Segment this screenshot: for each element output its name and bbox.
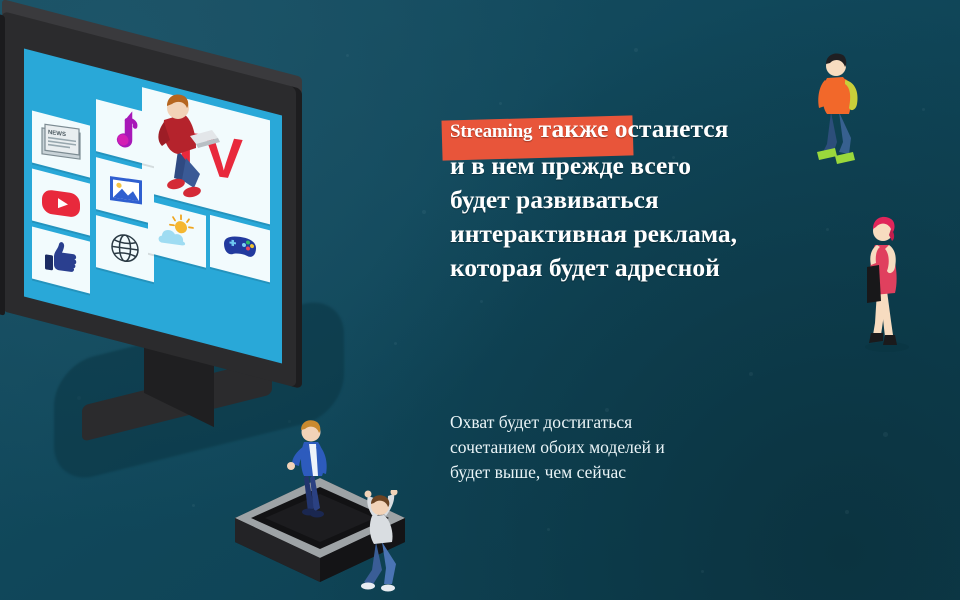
subtext-line-1: Охват будет достигаться [450,410,750,435]
figure-man-climbing [350,490,420,595]
weather-sun-cloud-icon [148,201,206,268]
tile-play[interactable] [32,169,90,236]
globe-icon [96,215,154,282]
subtext-line-3: будет выше, чем сейчас [450,460,750,485]
tile-thumbs-up[interactable] [32,227,90,294]
thumbs-up-icon [32,227,90,294]
headline-line-1-rest: также останется [532,114,728,143]
headline-line-2: и в нем прежде всего [450,149,870,183]
headline-line-4: интерактивная реклама, [450,217,870,251]
headline-block: Streaming также останется и в нем прежде… [450,112,870,285]
subtext-block: Охват будет достигаться сочетанием обоих… [450,410,750,485]
smartwatch-illustration [205,430,435,600]
tile-gamepad[interactable] [210,215,270,283]
subtext-line-2: сочетанием обоих моделей и [450,435,750,460]
headline-line-1: Streaming также останется [450,112,870,149]
headline-badge-word: Streaming [450,121,532,142]
headline-line-3: будет развиваться [450,183,870,217]
tile-weather[interactable] [148,201,206,268]
headline-line-5: которая будет адресной [450,251,870,285]
figure-man-in-suit [280,412,350,522]
tile-news[interactable]: NEWS [32,111,90,178]
gamepad-icon [210,215,270,283]
tile-globe[interactable] [96,215,154,282]
newspaper-icon: NEWS [32,111,90,178]
play-button-icon [32,169,90,236]
figure-man-with-laptop [134,78,252,206]
slide-canvas: TV NEWS [0,0,960,600]
